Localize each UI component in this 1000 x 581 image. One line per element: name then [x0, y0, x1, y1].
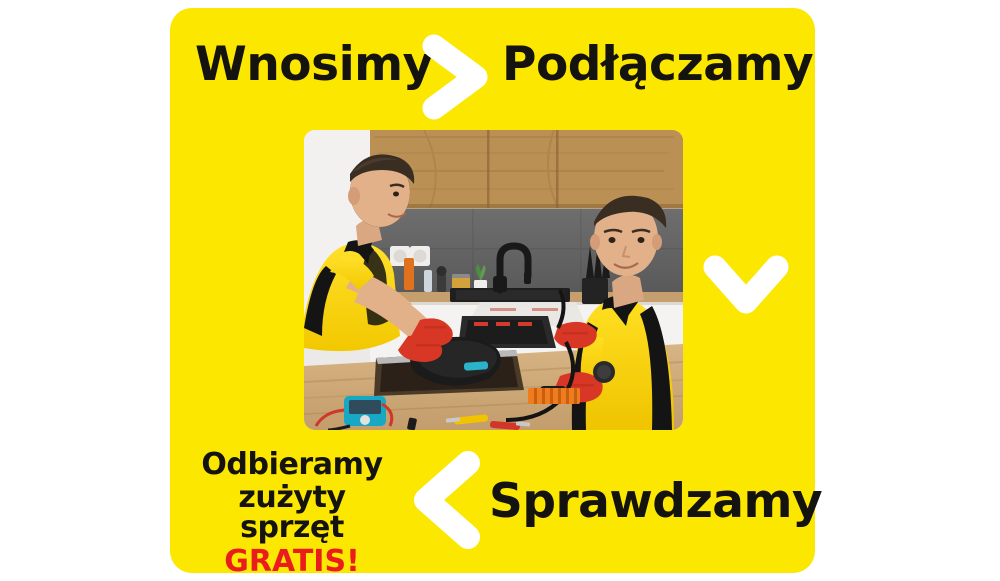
recycling-offer-block: Odbieramy zużyty sprzęt GRATIS! — [186, 450, 398, 577]
installation-photo — [304, 130, 683, 430]
offer-line-gratis: GRATIS! — [186, 547, 398, 578]
offer-line-2: zużyty sprzęt — [186, 483, 398, 544]
chevron-down-icon — [700, 245, 792, 325]
offer-line-1: Odbieramy — [186, 450, 398, 481]
chevron-right-icon — [418, 32, 494, 122]
headline-wnosimy: Wnosimy — [195, 41, 433, 88]
headline-sprawdzamy: Sprawdzamy — [489, 478, 822, 525]
chevron-left-icon — [408, 448, 488, 552]
headline-podlaczamy: Podłączamy — [502, 41, 813, 88]
banner-stage: Wnosimy Podłączamy Sprawdzamy Odbieramy … — [0, 0, 1000, 581]
